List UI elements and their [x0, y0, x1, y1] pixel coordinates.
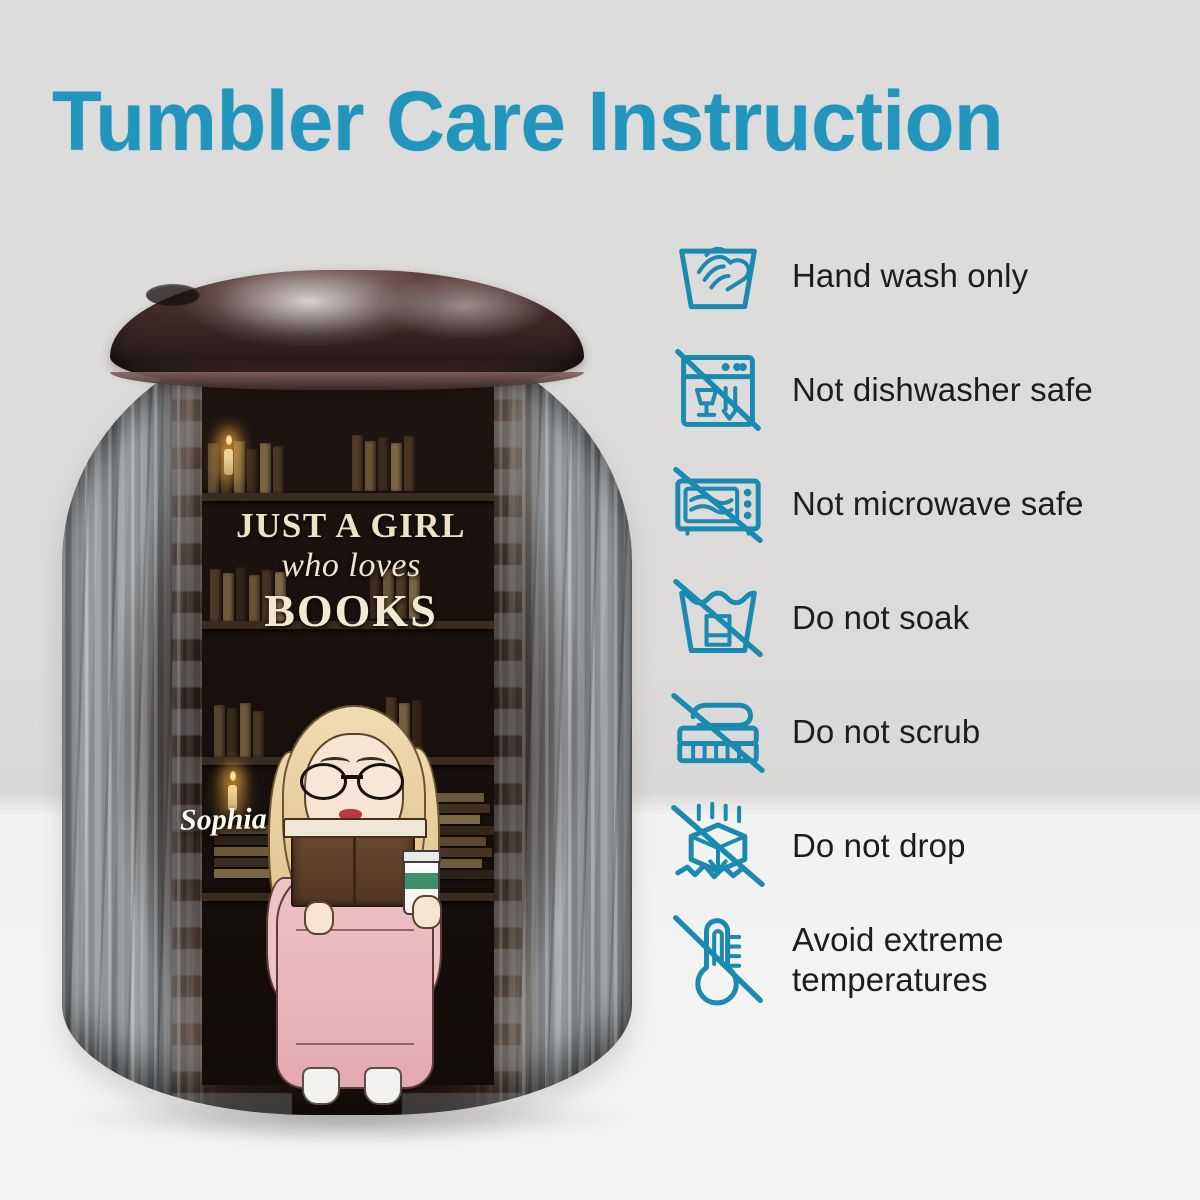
sock-right: [364, 1067, 402, 1105]
lid-slider-tab: [146, 284, 200, 306]
hand-left: [304, 901, 334, 935]
care-row-no-microwave: Not microwave safe: [662, 456, 1182, 552]
product-photo: JUST A GIRL who loves BOOKS Sophia: [0, 200, 660, 1200]
care-row-no-dishwasher: Not dishwasher safe: [662, 342, 1182, 438]
sock-left: [302, 1067, 340, 1105]
care-label: Hand wash only: [774, 256, 1028, 296]
no-extreme-temperature-icon: [662, 912, 774, 1008]
hand-wash-icon: [662, 228, 774, 324]
personalized-name: Sophia: [180, 802, 267, 838]
care-row-hand-wash: Hand wash only: [662, 228, 1182, 324]
no-scrub-brush-icon: [662, 684, 774, 780]
care-instruction-list: Hand wash only: [662, 228, 1182, 1026]
book-pages: [283, 818, 427, 838]
care-label: Do not drop: [774, 826, 966, 866]
care-row-no-soak: Do not soak: [662, 570, 1182, 666]
quote-line-1: JUST A GIRL: [212, 507, 490, 545]
girl-character-art: [260, 705, 446, 1105]
care-row-no-scrub: Do not scrub: [662, 684, 1182, 780]
no-soak-icon: [662, 570, 774, 666]
open-book: [291, 825, 415, 907]
care-label: Do not scrub: [774, 712, 980, 752]
no-microwave-icon: [662, 456, 774, 552]
care-label: Do not soak: [774, 598, 969, 638]
cup-logo-band: [405, 873, 438, 889]
tumbler-quote: JUST A GIRL who loves BOOKS: [212, 507, 490, 635]
page-title: Tumbler Care Instruction: [52, 76, 1129, 166]
care-instruction-page: Tumbler Care Instruction: [0, 0, 1200, 1200]
no-drop-icon: [662, 798, 774, 894]
tumbler-lid: [110, 270, 584, 390]
care-label: Not dishwasher safe: [774, 370, 1093, 410]
quote-line-3: BOOKS: [212, 587, 490, 635]
glasses-icon: [300, 763, 404, 795]
care-row-avoid-extreme-temperatures: Avoid extreme temperatures: [662, 912, 1182, 1008]
care-label: Avoid extreme temperatures: [774, 920, 1182, 1000]
quote-line-2: who loves: [212, 545, 490, 587]
no-dishwasher-icon: [662, 342, 774, 438]
tumbler-body: JUST A GIRL who loves BOOKS Sophia: [62, 325, 632, 1115]
cup-lid: [402, 850, 441, 863]
tumbler-product: JUST A GIRL who loves BOOKS Sophia: [62, 270, 632, 1115]
care-label: Not microwave safe: [774, 484, 1084, 524]
hand-right: [412, 895, 442, 929]
care-row-no-drop: Do not drop: [662, 798, 1182, 894]
